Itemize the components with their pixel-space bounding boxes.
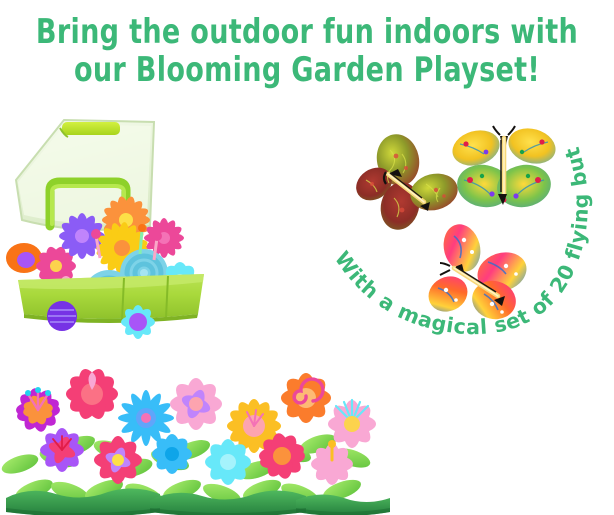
page-title: Bring the outdoor fun indoors with our B… [0,18,614,85]
flower-bloom [14,386,62,433]
flower-bloom [170,378,222,430]
storage-case-with-flowers [4,108,214,323]
ad-canvas: Bring the outdoor fun indoors with our B… [0,0,614,515]
arc-caption-textpath: With a magical set of 20 flying butterfl… [309,93,593,339]
arc-caption: With a magical set of 20 flying butterfl… [316,112,614,342]
headline-line-2: our Blooming Garden Playset! [5,53,610,89]
flower-bloom [118,390,174,446]
lid-handle-icon [62,122,120,135]
arc-caption-text: With a magical set of 20 flying butterfl… [309,93,593,339]
headline-line-1: Bring the outdoor fun indoors with [5,15,610,51]
flower-bloom [328,400,376,448]
flower-bloom [281,373,332,424]
flower-bloom [64,366,119,422]
flower-bloom [40,428,84,472]
flower-bloom [94,436,142,484]
